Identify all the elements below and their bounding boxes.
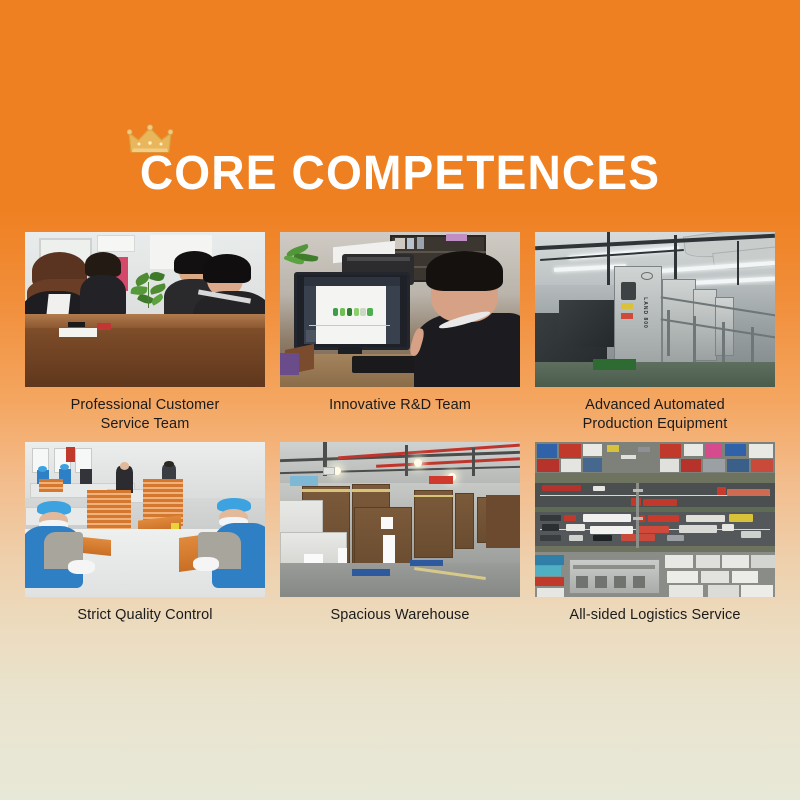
- card-advanced-automated-production-equipment[interactable]: LAND 800 Advanced Automated Production E…: [535, 232, 775, 434]
- caption-line: Service Team: [25, 415, 265, 434]
- caption-line: Spacious Warehouse: [280, 606, 520, 625]
- card-caption: Professional Customer Service Team: [25, 396, 265, 434]
- card-all-sided-logistics-service[interactable]: All-sided Logistics Service: [535, 442, 775, 625]
- caption-line: Advanced Automated: [535, 396, 775, 415]
- caption-line: Innovative R&D Team: [280, 396, 520, 415]
- core-competences-banner: CORE COMPETENCES: [0, 0, 800, 800]
- card-caption: Strict Quality Control: [25, 606, 265, 625]
- card-caption: Spacious Warehouse: [280, 606, 520, 625]
- caption-line: Strict Quality Control: [25, 606, 265, 625]
- card-caption: All-sided Logistics Service: [535, 606, 775, 625]
- aerial-container-yard-photo: [535, 442, 775, 597]
- card-caption: Advanced Automated Production Equipment: [535, 396, 775, 434]
- card-spacious-warehouse[interactable]: Spacious Warehouse: [280, 442, 520, 625]
- card-strict-quality-control[interactable]: Strict Quality Control: [25, 442, 265, 625]
- meeting-room-photo: [25, 232, 265, 387]
- page-title: CORE COMPETENCES: [140, 150, 660, 198]
- printing-press-line-photo: LAND 800: [535, 232, 775, 387]
- caption-line: All-sided Logistics Service: [535, 606, 775, 625]
- page-header: CORE COMPETENCES: [0, 150, 800, 220]
- card-innovative-rd-team[interactable]: Innovative R&D Team: [280, 232, 520, 434]
- card-professional-customer-service-team[interactable]: Professional Customer Service Team: [25, 232, 265, 434]
- competences-grid: Professional Customer Service Team: [25, 232, 775, 625]
- title-wrap: CORE COMPETENCES: [129, 150, 671, 198]
- caption-line: Production Equipment: [535, 415, 775, 434]
- designer-at-computer-photo: [280, 232, 520, 387]
- warehouse-pallets-photo: [280, 442, 520, 597]
- caption-line: Professional Customer: [25, 396, 265, 415]
- card-caption: Innovative R&D Team: [280, 396, 520, 415]
- quality-inspection-workshop-photo: [25, 442, 265, 597]
